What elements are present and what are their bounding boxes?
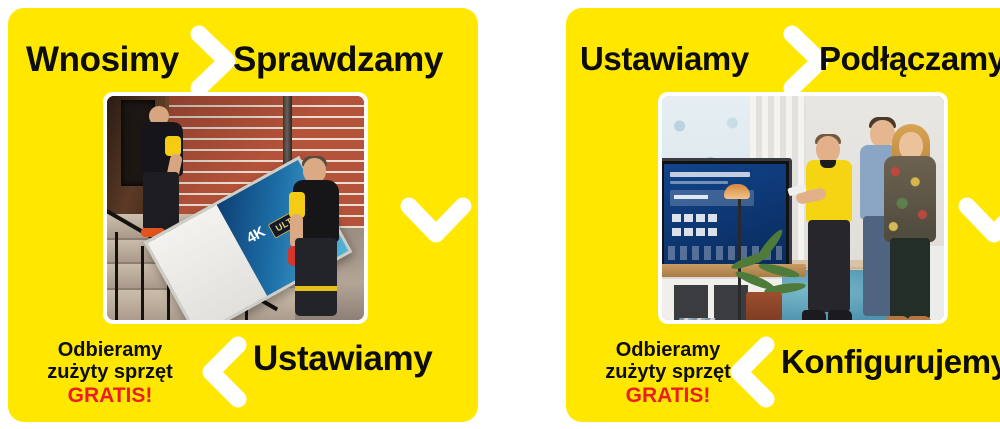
recycle-note-line2: zużyty sprzęt xyxy=(47,361,173,383)
step-label-wnosimy: Wnosimy xyxy=(26,42,179,77)
chevron-down-icon xyxy=(396,190,476,252)
customer-woman xyxy=(884,128,940,320)
panel-delivery: Wnosimy Sprawdzamy xyxy=(8,8,478,422)
panel-installation: Ustawiamy Podłączamy xyxy=(566,8,1000,422)
step-label-sprawdzamy: Sprawdzamy xyxy=(233,42,443,77)
chevron-left-icon xyxy=(721,332,783,412)
delivery-photo: 4K ULTRA HD xyxy=(107,96,364,320)
technician xyxy=(802,136,858,320)
recycle-note-line1: Odbieramy xyxy=(616,339,720,361)
plant-leaves xyxy=(728,232,808,296)
installation-photo-frame xyxy=(658,92,948,324)
worker-upper xyxy=(141,106,189,236)
books xyxy=(677,318,716,320)
step-label-podlaczamy: Podłączamy xyxy=(819,42,1000,75)
step-label-ustawiamy-top: Ustawiamy xyxy=(580,42,749,75)
chevron-down-icon xyxy=(954,190,1000,252)
recycle-note-line1: Odbieramy xyxy=(58,339,162,361)
recycle-note-gratis: GRATIS! xyxy=(20,384,200,408)
recycle-note: Odbieramy zużyty sprzęt GRATIS! xyxy=(20,339,200,408)
service-steps-banner: Wnosimy Sprawdzamy xyxy=(0,0,1000,429)
floor-lamp-shade xyxy=(724,184,750,199)
delivery-photo-frame: 4K ULTRA HD xyxy=(103,92,368,324)
step-label-ustawiamy: Ustawiamy xyxy=(253,341,432,376)
installation-photo xyxy=(662,96,944,320)
recycle-note-line2: zużyty sprzęt xyxy=(605,361,731,383)
chevron-left-icon xyxy=(193,332,255,412)
worker-lower xyxy=(289,158,351,320)
step-label-konfigurujemy: Konfigurujemy xyxy=(781,345,1000,378)
plant-pot xyxy=(746,292,782,320)
